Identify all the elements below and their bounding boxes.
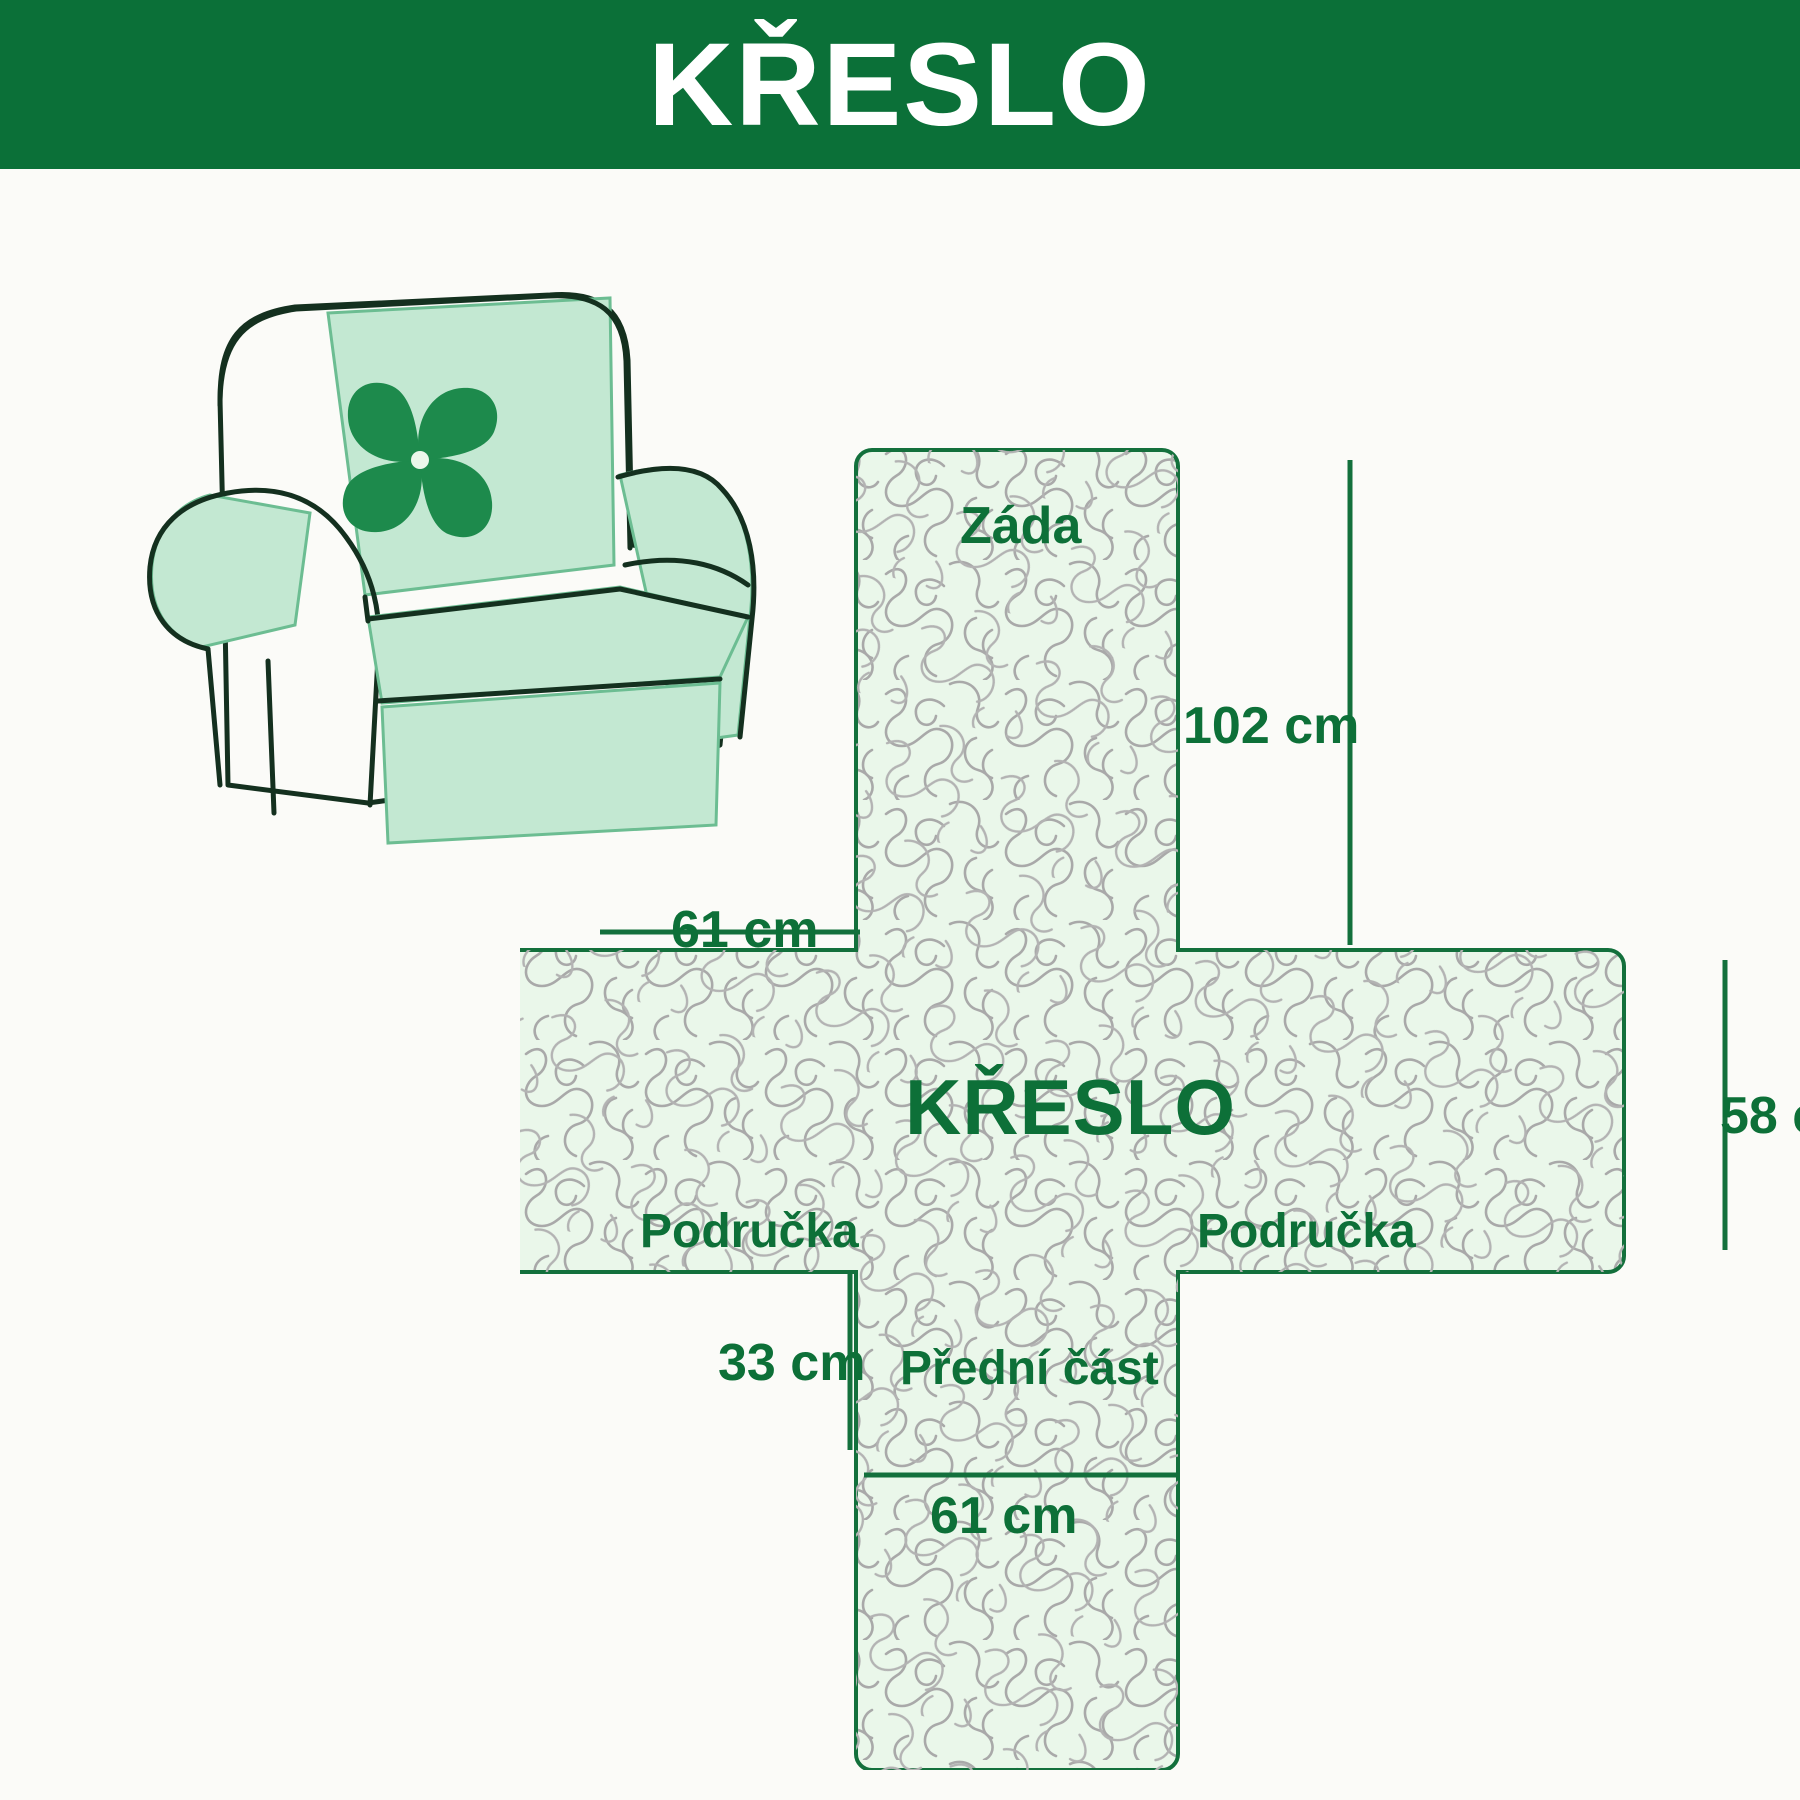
back-panel-label: Záda [960, 500, 1081, 552]
page-title: KŘESLO [648, 26, 1152, 144]
page-root: KŘESLO .co{fill:none;stroke:#14301f;stro… [0, 0, 1800, 1800]
seat-panel-label: KŘESLO [905, 1068, 1236, 1146]
header-banner: KŘESLO [0, 0, 1800, 169]
front-width-dimension-label: 61 cm [930, 1490, 1077, 1542]
arm-width-dimension-label: 61 cm [671, 904, 818, 956]
right-arm-panel-label: Područka [1197, 1208, 1416, 1256]
front-height-dimension-label: 33 cm [718, 1337, 865, 1389]
seat-depth-dimension-label: 58 cm [1720, 1090, 1800, 1142]
front-panel-label: Přední část [900, 1345, 1159, 1393]
back-height-dimension-label: 102 cm [1183, 700, 1359, 752]
left-arm-panel-label: Područka [640, 1208, 859, 1256]
